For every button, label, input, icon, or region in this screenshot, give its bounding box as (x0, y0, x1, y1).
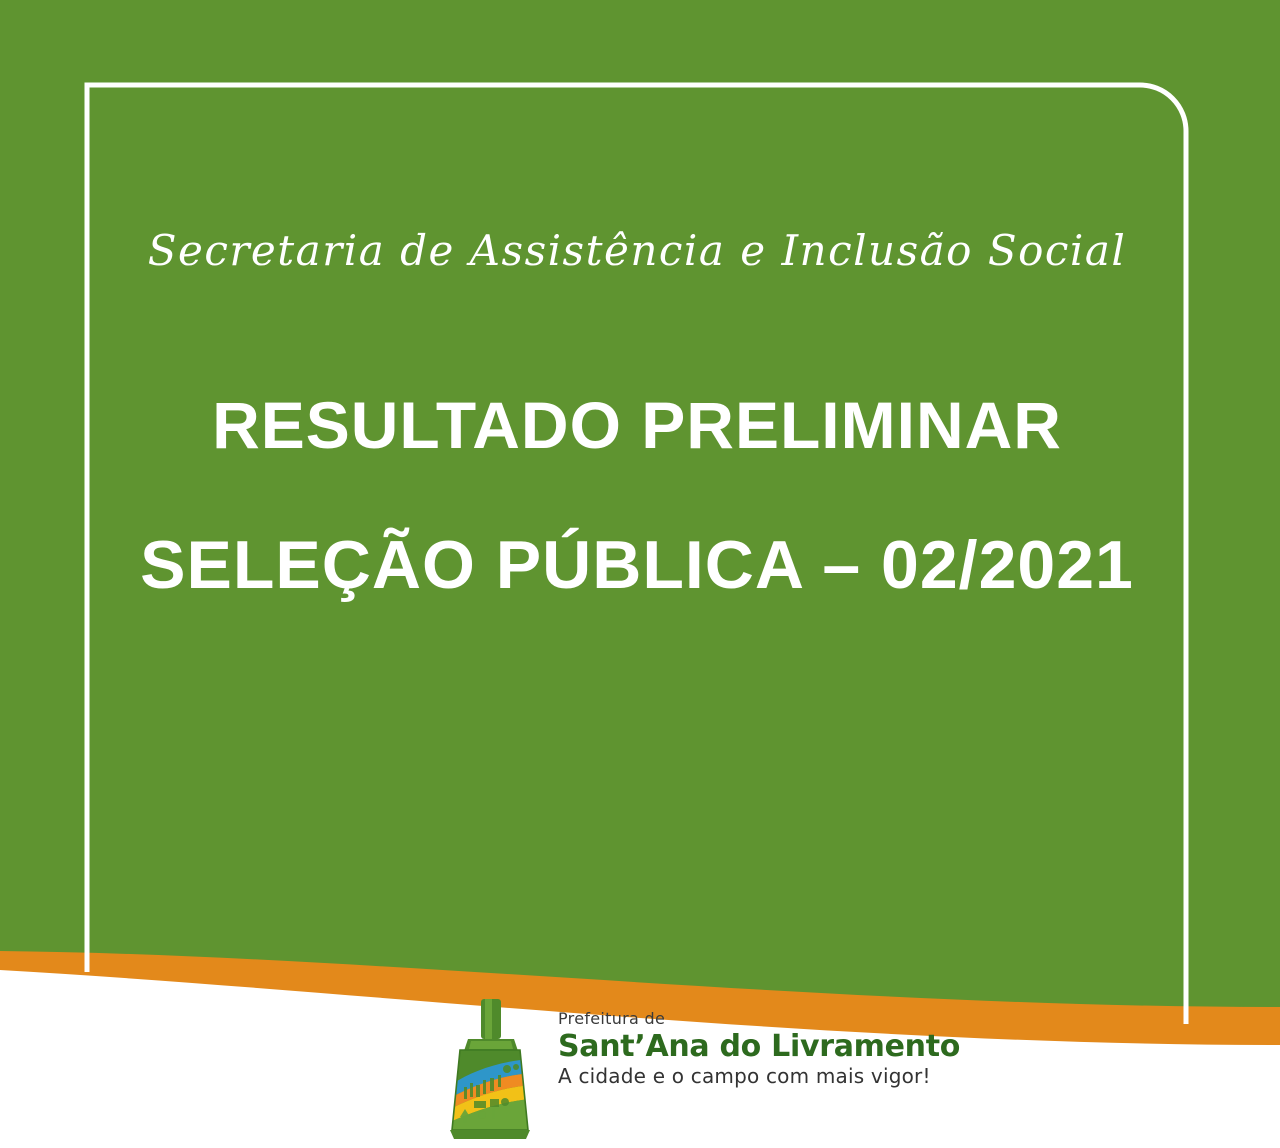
logo-prefix-label: Prefeitura de (558, 1011, 665, 1027)
municipal-logo: Prefeitura de Sant’Ana do Livramento A c… (430, 995, 870, 1145)
cerro-monument-emblem-icon (430, 995, 550, 1145)
poster-content: Secretaria de Assistência e Inclusão Soc… (87, 85, 1187, 975)
headline-primary: RESULTADO PRELIMINAR (87, 390, 1187, 461)
headline-secondary: SELEÇÃO PÚBLICA – 02/2021 (87, 529, 1187, 602)
department-script-title: Secretaria de Assistência e Inclusão Soc… (148, 230, 1127, 272)
logo-city-name: Sant’Ana do Livramento (558, 1031, 960, 1063)
logo-slogan: A cidade e o campo com mais vigor! (558, 1066, 931, 1086)
logo-text-block: Prefeitura de Sant’Ana do Livramento A c… (558, 995, 960, 1086)
poster-canvas: Secretaria de Assistência e Inclusão Soc… (0, 0, 1280, 1148)
headline-block: RESULTADO PRELIMINAR SELEÇÃO PÚBLICA – 0… (87, 390, 1187, 603)
